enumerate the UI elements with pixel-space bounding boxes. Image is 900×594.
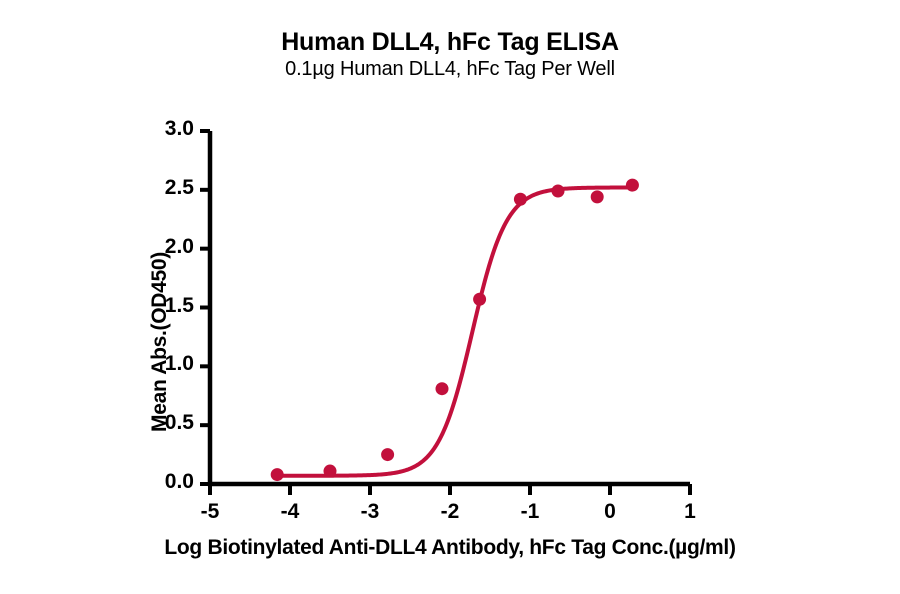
data-point: [626, 179, 639, 192]
axis-lines: [210, 131, 690, 484]
x-tick-label: -2: [420, 500, 480, 524]
data-point: [552, 185, 565, 198]
y-tick-label: 1.0: [165, 352, 194, 376]
elisa-chart-figure: Human DLL4, hFc Tag ELISA 0.1µg Human DL…: [0, 0, 900, 594]
x-tick-label: -1: [500, 500, 560, 524]
y-tick-label: 0.0: [165, 470, 194, 494]
data-point: [436, 382, 449, 395]
y-tick-label: 3.0: [165, 117, 194, 141]
x-tick-label: -4: [260, 500, 320, 524]
data-markers: [271, 179, 639, 481]
data-point: [473, 293, 486, 306]
y-tick-label: 0.5: [165, 411, 194, 435]
x-tick-label: -5: [180, 500, 240, 524]
data-point: [591, 190, 604, 203]
x-tick-label: -3: [340, 500, 400, 524]
y-tick-label: 2.0: [165, 235, 194, 259]
data-point: [514, 193, 527, 206]
data-point: [381, 448, 394, 461]
x-tick-label: 0: [580, 500, 640, 524]
fit-curve: [277, 188, 632, 476]
y-tick-label: 2.5: [165, 176, 194, 200]
y-tick-label: 1.5: [165, 294, 194, 318]
x-tick-label: 1: [660, 500, 720, 524]
data-point: [324, 465, 337, 478]
data-point: [271, 468, 284, 481]
